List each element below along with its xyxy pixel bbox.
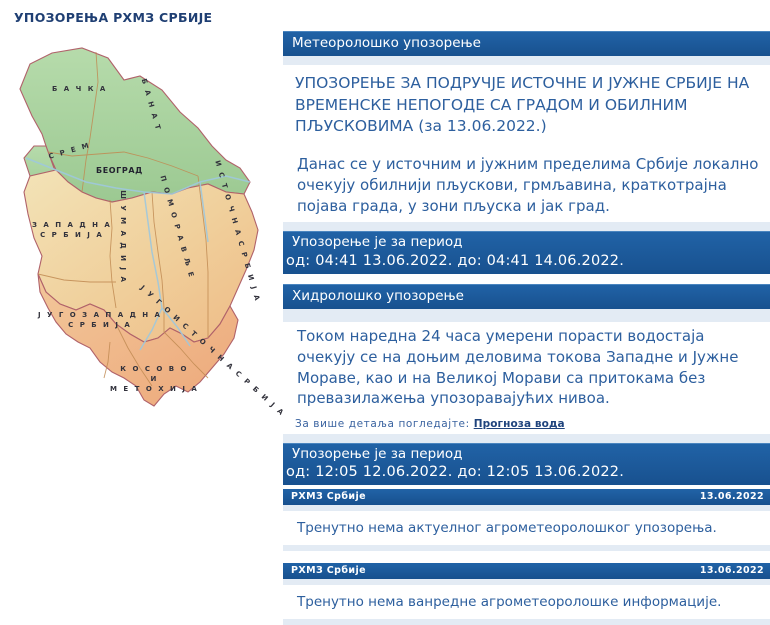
warnings-content: Метеоролошко упозорење УПОЗОРЕЊЕ ЗА ПОДР… [283,31,770,625]
hydro-tint-band [283,309,770,322]
hydro-body: Током наредна 24 часа умерени порасти во… [283,322,770,415]
page-title: УПОЗОРЕЊА РХМЗ СРБИЈЕ [14,10,212,25]
map-svg [12,42,270,422]
meteo-period: Упозорење је за период од: 04:41 13.06.2… [283,231,770,274]
agro-info-date: 13.06.2022 [700,565,764,576]
section-gap-1 [283,274,770,284]
agro-warning-date: 13.06.2022 [700,491,764,502]
agro-info-text: Тренутно нема ванредне агрометеоролошке … [283,585,770,619]
hydro-note-lead: За више детаља погледајте: [295,418,474,430]
agro-warning-header: РХМЗ Србије 13.06.2022 [283,489,770,505]
meteo-section-header: Метеоролошко упозорење [283,31,770,56]
hydro-note: За више детаља погледајте: Прогноза вода [283,415,770,433]
hydro-period-title: Упозорење је за период [285,445,768,463]
meteo-period-range: од: 04:41 13.06.2022. до: 04:41 14.06.20… [285,252,768,272]
prognoza-voda-link[interactable]: Прогноза вода [474,418,565,430]
agro-info-tint-2 [283,619,770,625]
hydro-section-header: Хидролошко упозорење [283,284,770,309]
agro-info-source: РХМЗ Србије [291,565,366,576]
hydro-period: Упозорење је за период од: 12:05 12.06.2… [283,443,770,486]
hydro-tint-band-2 [283,434,770,443]
meteo-tint-band-2 [283,222,770,231]
agro-info-header: РХМЗ Србије 13.06.2022 [283,563,770,579]
meteo-tint-band [283,56,770,65]
agro-warning-source: РХМЗ Србије [291,491,366,502]
meteo-body: Данас се у источним и јужним пределима С… [283,150,770,222]
serbia-region-map: Б А Ч К А Б А Н А Т С Р Е М БЕОГРАД З А … [12,42,270,422]
agro-warning-text: Тренутно нема актуелног агрометеоролошко… [283,511,770,545]
hydro-period-range: од: 12:05 12.06.2022. до: 12:05 13.06.20… [285,463,768,483]
meteo-headline: УПОЗОРЕЊЕ ЗА ПОДРУЧЈЕ ИСТОЧНЕ И ЈУЖНЕ СР… [283,65,770,143]
meteo-spacer [283,143,770,150]
meteo-period-title: Упозорење је за период [285,233,768,251]
